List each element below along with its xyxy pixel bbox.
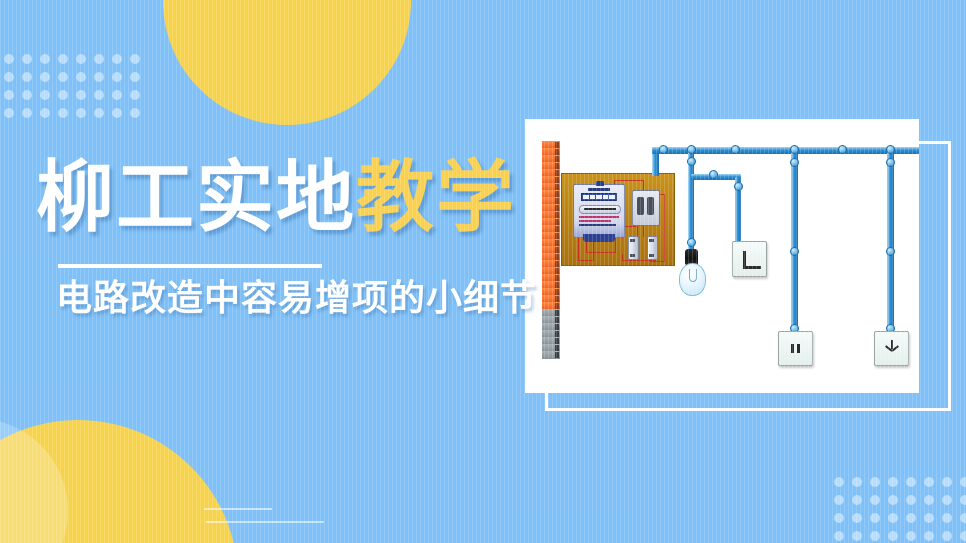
title-block: 柳工实地教学 xyxy=(36,158,516,236)
conduit-joint xyxy=(790,247,799,256)
conduit-joint xyxy=(687,238,696,247)
title-divider xyxy=(58,264,322,268)
dot-grid-bottom-right xyxy=(834,477,966,541)
socket-two-pin-conduit xyxy=(791,151,798,335)
conduit-joint xyxy=(709,170,718,179)
dot-grid-top-left xyxy=(4,54,140,118)
wall-switch-icon xyxy=(732,241,767,277)
conduit-joint xyxy=(790,158,799,167)
conduit-joint xyxy=(687,157,696,166)
conduit-joint xyxy=(886,247,895,256)
conduit-joint xyxy=(790,145,799,154)
illustration-panel xyxy=(525,119,919,393)
conduit-joint xyxy=(838,145,847,154)
light-bulb-icon xyxy=(679,263,706,296)
circuit-diagram xyxy=(525,119,919,393)
accent-line-short xyxy=(204,508,272,510)
conduit-joint xyxy=(687,145,696,154)
lamp-drop-conduit xyxy=(688,151,694,251)
two-pin-socket-icon xyxy=(778,331,813,366)
conduit-joint xyxy=(886,145,895,154)
electricity-meter-icon xyxy=(573,184,625,238)
yellow-circle-top-icon xyxy=(163,0,411,125)
conduit-joint xyxy=(886,158,895,167)
three-pin-socket-icon xyxy=(874,331,909,366)
conduit-joint xyxy=(731,145,740,154)
page-title-white-part: 柳工实地 xyxy=(36,153,356,241)
socket-three-pin-conduit xyxy=(887,151,894,335)
poster-canvas: 柳工实地教学 电路改造中容易增项的小细节 xyxy=(0,0,966,543)
page-title-accent-part: 教学 xyxy=(356,153,516,241)
conduit-joint xyxy=(659,145,668,154)
fuse-left-icon xyxy=(628,236,639,260)
fuse-right-icon xyxy=(647,236,658,260)
page-subtitle: 电路改造中容易增项的小细节 xyxy=(56,280,537,316)
conduit-joint xyxy=(734,182,743,191)
circuit-breaker-icon xyxy=(632,190,660,226)
accent-line-long xyxy=(206,521,324,523)
page-title: 柳工实地教学 xyxy=(36,158,516,236)
distribution-board xyxy=(561,173,675,266)
brick-wall xyxy=(542,141,560,377)
